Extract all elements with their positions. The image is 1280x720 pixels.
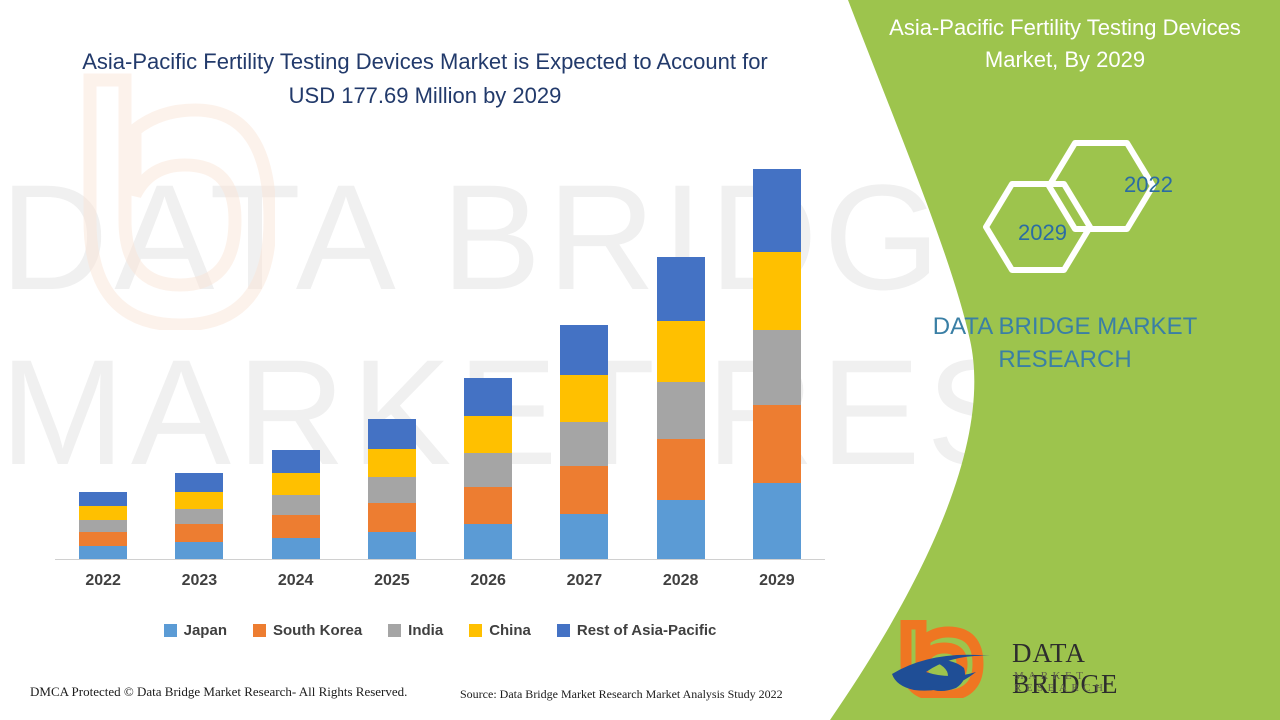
data-bridge-mark-icon [890,620,1005,698]
bar-segment-rest-of-asia-pacific[interactable] [657,257,705,321]
bar-segment-south-korea[interactable] [79,532,127,546]
legend-item-rest-of-asia-pacific[interactable]: Rest of Asia-Pacific [557,622,717,639]
legend-label: Japan [184,622,227,639]
bar-segment-china[interactable] [175,492,223,509]
x-axis-line [55,559,825,560]
bar-segment-china[interactable] [753,252,801,330]
bar-segment-india[interactable] [272,495,320,515]
bar-segment-india[interactable] [657,382,705,439]
bar-column[interactable] [344,419,440,559]
bar-stack [79,492,127,559]
legend-label: South Korea [273,622,362,639]
bar-segment-japan[interactable] [175,542,223,559]
bar-segment-south-korea[interactable] [560,466,608,514]
x-tick-label-2029: 2029 [729,572,825,590]
bar-stack [560,325,608,559]
bar-stack [753,169,801,559]
bar-segment-china[interactable] [368,449,416,477]
bar-stack [464,378,512,559]
bar-segment-china[interactable] [272,473,320,495]
legend-swatch-icon [253,624,266,637]
legend-item-south-korea[interactable]: South Korea [253,622,362,639]
panel-title: Asia-Pacific Fertility Testing Devices M… [865,12,1265,76]
chart-legend: JapanSouth KoreaIndiaChinaRest of Asia-P… [55,617,825,643]
bar-segment-south-korea[interactable] [368,503,416,532]
bar-column[interactable] [55,492,151,559]
data-bridge-logo: DATA BRIDGE MARKET RESEARCH [890,620,1150,700]
legend-swatch-icon [388,624,401,637]
bar-column[interactable] [248,450,344,559]
x-tick-label-2022: 2022 [55,572,151,590]
bar-segment-india[interactable] [753,330,801,405]
bar-segment-india[interactable] [560,422,608,466]
x-tick-label-2024: 2024 [248,572,344,590]
legend-item-china[interactable]: China [469,622,531,639]
bar-column[interactable] [729,169,825,559]
green-panel-content: Asia-Pacific Fertility Testing Devices M… [840,0,1280,720]
bar-segment-south-korea[interactable] [657,439,705,500]
footer-source: Source: Data Bridge Market Research Mark… [460,687,783,702]
hexagon-2022-label: 2022 [1124,172,1173,198]
bar-segment-south-korea[interactable] [175,524,223,542]
bar-column[interactable] [633,257,729,559]
legend-swatch-icon [164,624,177,637]
bar-column[interactable] [440,378,536,559]
bar-segment-india[interactable] [79,520,127,532]
x-tick-label-2028: 2028 [633,572,729,590]
legend-label: China [489,622,531,639]
bar-segment-japan[interactable] [79,546,127,559]
legend-label: India [408,622,443,639]
bar-segment-south-korea[interactable] [272,515,320,538]
legend-item-india[interactable]: India [388,622,443,639]
bar-segment-rest-of-asia-pacific[interactable] [560,325,608,375]
bar-segment-japan[interactable] [272,538,320,559]
chart-plot-area [55,140,825,560]
bar-segment-japan[interactable] [560,514,608,559]
bar-segment-india[interactable] [175,509,223,525]
hexagon-group: 2022 2029 [980,128,1200,293]
page-title: Asia-Pacific Fertility Testing Devices M… [60,45,790,113]
bar-stack [175,473,223,559]
bar-segment-japan[interactable] [464,524,512,559]
bar-column[interactable] [536,325,632,559]
bar-column[interactable] [151,473,247,559]
bar-segment-japan[interactable] [657,500,705,559]
bar-stack [657,257,705,559]
x-tick-label-2025: 2025 [344,572,440,590]
bar-segment-south-korea[interactable] [464,487,512,524]
x-tick-label-2026: 2026 [440,572,536,590]
brand-name: DATA BRIDGE MARKET RESEARCH [870,310,1260,376]
bar-segment-rest-of-asia-pacific[interactable] [272,450,320,473]
bar-segment-japan[interactable] [753,483,801,559]
legend-swatch-icon [469,624,482,637]
bar-stack [368,419,416,559]
bar-segment-india[interactable] [368,477,416,503]
bar-segment-japan[interactable] [368,532,416,559]
bar-segment-rest-of-asia-pacific[interactable] [175,473,223,491]
hexagon-icons [980,128,1200,293]
legend-swatch-icon [557,624,570,637]
x-tick-label-2027: 2027 [536,572,632,590]
bar-segment-india[interactable] [464,453,512,487]
bar-stack [272,450,320,559]
footer-copyright: DMCA Protected © Data Bridge Market Rese… [30,684,407,700]
x-axis-tick-labels: 20222023202420252026202720282029 [55,572,825,598]
bar-segment-south-korea[interactable] [753,405,801,484]
bar-segment-rest-of-asia-pacific[interactable] [753,169,801,252]
bar-segment-rest-of-asia-pacific[interactable] [464,378,512,416]
legend-label: Rest of Asia-Pacific [577,622,717,639]
bar-segment-rest-of-asia-pacific[interactable] [79,492,127,506]
bar-segment-china[interactable] [79,506,127,519]
bar-segment-rest-of-asia-pacific[interactable] [368,419,416,449]
hexagon-2029-label: 2029 [1018,220,1067,246]
bar-segment-china[interactable] [464,416,512,452]
footer: DMCA Protected © Data Bridge Market Rese… [0,678,860,720]
bar-segment-china[interactable] [657,321,705,381]
logo-subtitle: MARKET RESEARCH [1014,670,1150,694]
bar-segment-china[interactable] [560,375,608,422]
x-tick-label-2023: 2023 [151,572,247,590]
legend-item-japan[interactable]: Japan [164,622,227,639]
